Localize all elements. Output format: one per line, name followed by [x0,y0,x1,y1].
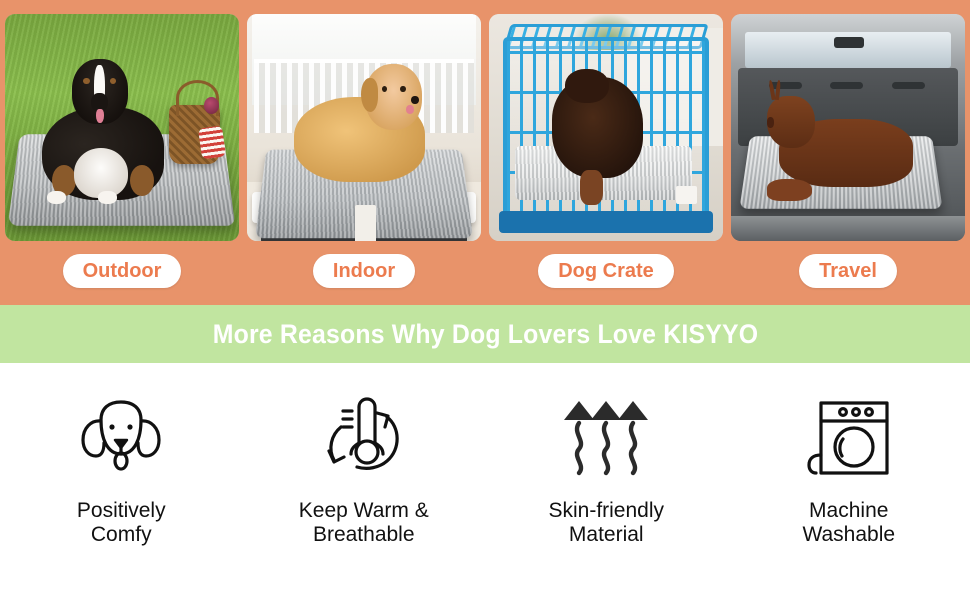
feature-positively-comfy: Positively Comfy [0,363,243,600]
dog-eye [400,86,405,92]
dog-leg [767,179,812,201]
feature-keep-warm-breathable: Keep Warm & Breathable [243,363,486,600]
crate-base-tray [499,211,713,233]
feature-label: Keep Warm & Breathable [299,499,429,546]
dog-leg [580,170,604,205]
product-infographic: Outdoor Indoor Dog Crate Travel More Rea… [0,0,970,600]
dog-ear [361,78,378,111]
dog-head [565,69,608,104]
usecase-photo-travel [731,14,965,241]
headline-banner: More Reasons Why Dog Lovers Love KISYYO [0,305,970,363]
dog-paw [47,191,65,204]
usecase-label-cell: Travel [731,254,965,288]
dog-chest [74,148,128,198]
usecase-band: Outdoor Indoor Dog Crate Travel [0,0,970,305]
product-tag [676,186,697,204]
usecase-label-cell: Dog Crate [489,254,723,288]
usecase-photo-outdoor [5,14,239,241]
usecase-pill-indoor[interactable]: Indoor [313,254,415,288]
dog-in-crate [552,77,643,179]
dog-face-icon [73,395,169,481]
dog-brow-right [110,78,117,84]
usecase-label-row: Outdoor Indoor Dog Crate Travel [0,254,970,288]
dog-tan-marking-right [130,165,154,197]
airflow-arrows-icon [558,395,654,481]
usecase-photo-indoor [247,14,481,241]
usecase-pill-travel[interactable]: Travel [799,254,897,288]
usecase-label-cell: Indoor [247,254,481,288]
headrest [892,82,925,89]
washing-machine-icon [801,395,897,481]
bernese-mountain-dog [42,59,164,200]
dog-muzzle [767,117,775,129]
dog-eye [382,86,387,92]
headrest [830,82,863,89]
dog-tongue [406,105,414,114]
feature-skin-friendly-material: Skin-friendly Material [485,363,728,600]
feature-row: Positively Comfy [0,363,970,600]
usecase-pill-outdoor[interactable]: Outdoor [63,254,182,288]
feature-label: Skin-friendly Material [548,499,664,546]
dog-head [365,64,423,130]
dog-head [72,59,128,124]
product-tag [355,205,376,241]
usecase-label-cell: Outdoor [5,254,239,288]
picnic-basket [169,105,220,164]
dog-paw [98,191,116,204]
usecase-pill-dog-crate[interactable]: Dog Crate [538,254,674,288]
feature-machine-washable: Machine Washable [728,363,970,600]
golden-retriever [294,64,425,182]
rear-view-mirror [834,37,864,48]
dog-nose [411,96,419,104]
thermometer-icon [316,395,412,481]
feature-label: Positively Comfy [77,499,166,546]
dog-brow-left [83,78,90,84]
feature-label: Machine Washable [802,499,895,546]
blue-wire-crate [503,37,709,219]
usecase-photo-row [0,14,970,241]
rear-bumper [731,216,965,241]
dog-tongue [96,109,103,123]
fruit [204,97,219,115]
usecase-photo-dog-crate [489,14,723,241]
headline-text: More Reasons Why Dog Lovers Love KISYYO [212,319,758,350]
doberman [764,96,914,187]
dog-head [767,96,815,149]
